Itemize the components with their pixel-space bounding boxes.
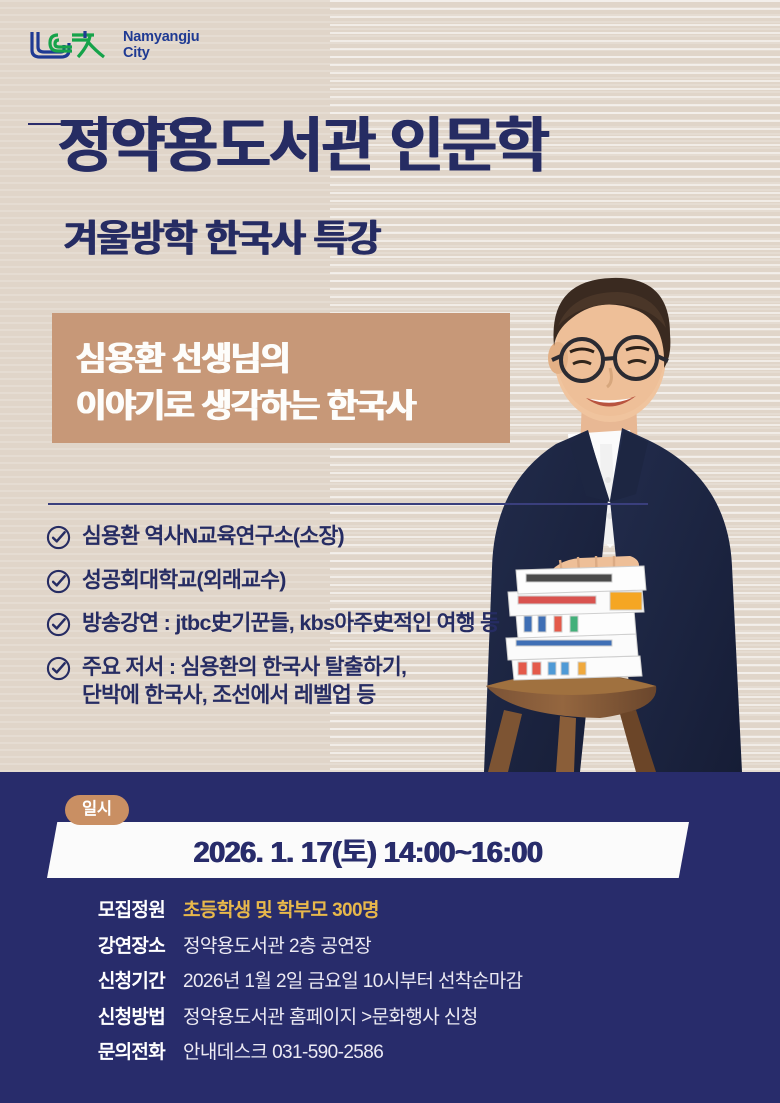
detail-value: 정약용도서관 홈페이지 >문화행사 신청 <box>183 1002 478 1029</box>
detail-key: 신청방법 <box>0 1002 183 1029</box>
list-item: 성공회대학교(외래교수) <box>46 566 706 595</box>
table-row: 문의전화 안내데스크 031-590-2586 <box>0 1037 780 1064</box>
credential-line-1: 심용환 역사N교육연구소(소장) <box>82 524 344 548</box>
check-circle-icon <box>46 656 71 681</box>
poster-subtitle: 겨울방학 한국사 특강 <box>64 220 380 257</box>
brand-name-line2: City <box>123 45 199 61</box>
detail-key: 신청기간 <box>0 966 183 993</box>
brand-name: Namyangju City <box>123 29 199 61</box>
details-table: 모집정원 초등학생 및 학부모 300명 강연장소 정약용도서관 2층 공연장 … <box>0 895 780 1064</box>
credential-text: 방송강연 : jtbc史기꾼들, kbs아주史적인 여행 등 <box>82 609 499 638</box>
check-circle-icon <box>46 569 71 594</box>
detail-value: 정약용도서관 2층 공연장 <box>183 931 371 958</box>
highlight-line-1: 심용환 선생님의 <box>76 342 290 375</box>
check-circle-icon <box>46 525 71 550</box>
detail-key: 강연장소 <box>0 931 183 958</box>
poster-title: 정약용도서관 인문학 <box>58 117 548 176</box>
credential-line-1: 방송강연 : jtbc史기꾼들, kbs아주史적인 여행 등 <box>82 611 499 635</box>
detail-key: 문의전화 <box>0 1037 183 1064</box>
detail-value: 초등학생 및 학부모 300명 <box>183 895 379 922</box>
table-row: 강연장소 정약용도서관 2층 공연장 <box>0 931 780 958</box>
table-row: 모집정원 초등학생 및 학부모 300명 <box>0 895 780 922</box>
section-divider <box>48 503 648 505</box>
table-row: 신청방법 정약용도서관 홈페이지 >문화행사 신청 <box>0 1002 780 1029</box>
detail-value: 안내데스크 031-590-2586 <box>183 1037 383 1064</box>
check-circle-icon <box>46 612 71 637</box>
table-row: 신청기간 2026년 1월 2일 금요일 10시부터 선착순마감 <box>0 966 780 993</box>
list-item: 심용환 역사N교육연구소(소장) <box>46 522 706 551</box>
credential-text: 주요 저서 : 심용환의 한국사 탈출하기, 단박에 한국사, 조선에서 레벨업… <box>82 653 406 710</box>
credential-line-2: 단박에 한국사, 조선에서 레벨업 등 <box>82 681 406 710</box>
list-item: 방송강연 : jtbc史기꾼들, kbs아주史적인 여행 등 <box>46 609 706 638</box>
highlight-box: 심용환 선생님의 이야기로 생각하는 한국사 <box>52 313 510 443</box>
credential-text: 성공회대학교(외래교수) <box>82 566 286 595</box>
list-item: 주요 저서 : 심용환의 한국사 탈출하기, 단박에 한국사, 조선에서 레벨업… <box>46 653 706 710</box>
brand-name-line1: Namyangju <box>123 29 199 45</box>
brand-logo: Namyangju City <box>28 26 199 64</box>
detail-key: 모집정원 <box>0 895 183 922</box>
event-datetime: 2026. 1. 17(토) 14:00~16:00 <box>47 822 689 878</box>
credential-text: 심용환 역사N교육연구소(소장) <box>82 522 344 551</box>
detail-value: 2026년 1월 2일 금요일 10시부터 선착순마감 <box>183 966 522 993</box>
highlight-line-2: 이야기로 생각하는 한국사 <box>76 389 415 422</box>
credentials-list: 심용환 역사N교육연구소(소장) 성공회대학교(외래교수) 방송강연 : jtb… <box>46 522 706 710</box>
poster-root: Namyangju City 정약용도서관 인문학 겨울방학 한국사 특강 심용… <box>0 0 780 1103</box>
namyangju-city-logo-icon <box>28 26 114 64</box>
date-badge: 일시 <box>65 795 129 825</box>
credential-line-1: 주요 저서 : 심용환의 한국사 탈출하기, <box>82 655 406 679</box>
credential-line-1: 성공회대학교(외래교수) <box>82 568 286 592</box>
